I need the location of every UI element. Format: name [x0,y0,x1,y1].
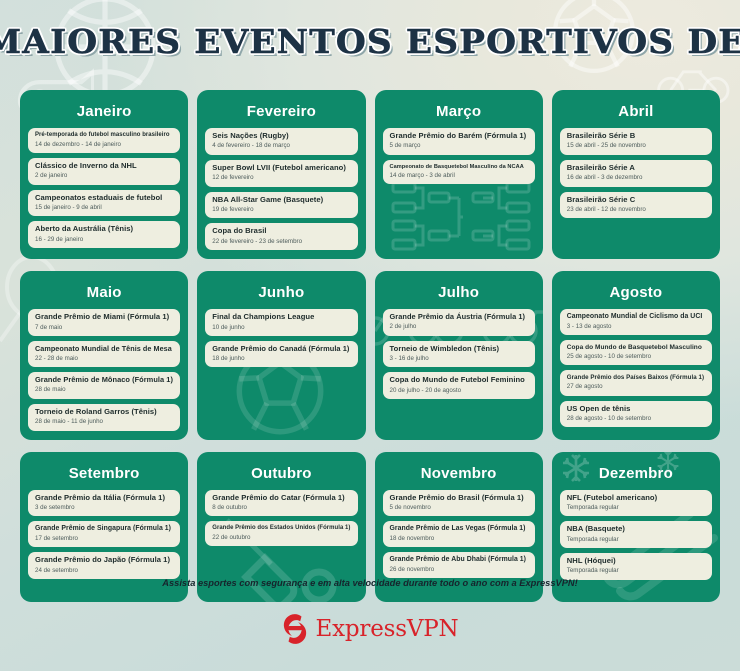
event-item[interactable]: Torneio de Wimbledon (Tênis)3 - 16 de ju… [383,341,535,368]
event-name: NBA All-Star Game (Basquete) [212,196,350,205]
month-title: Setembro [28,465,180,482]
event-date: 28 de agosto - 10 de setembro [567,415,705,422]
event-name: Grande Prêmio dos Países Baixos (Fórmula… [567,374,705,381]
event-item[interactable]: NBA (Basquete)Temporada regular [560,521,712,548]
event-item[interactable]: Aberto da Austrália (Tênis)16 - 29 de ja… [28,221,180,248]
month-card-junho: JunhoFinal da Champions League10 de junh… [197,271,365,439]
event-name: Grande Prêmio da Áustria (Fórmula 1) [390,313,528,322]
month-title: Janeiro [28,103,180,120]
event-date: 16 de abril - 3 de dezembro [567,174,705,181]
event-date: 5 de março [390,142,528,149]
event-item[interactable]: Copa do Mundo de Futebol Feminino20 de j… [383,372,535,399]
event-item[interactable]: Grande Prêmio dos Países Baixos (Fórmula… [560,370,712,395]
event-name: Grande Prêmio de Mônaco (Fórmula 1) [35,376,173,385]
event-date: 17 de setembro [35,535,173,542]
event-name: Torneio de Wimbledon (Tênis) [390,345,528,354]
event-date: 5 de novembro [390,504,528,511]
month-title: Outubro [205,465,357,482]
event-date: 27 de agosto [567,383,705,390]
event-date: 3 - 16 de julho [390,355,528,362]
brand-lockup: ExpressVPN [0,613,740,645]
footer-tagline: Assista esportes com segurança e em alta… [0,578,740,588]
event-name: Grande Prêmio do Barém (Fórmula 1) [390,132,528,141]
month-title: Maio [28,284,180,301]
event-list: Final da Champions League10 de junhoGran… [205,309,357,367]
event-item[interactable]: Final da Champions League10 de junho [205,309,357,336]
event-date: 7 de maio [35,324,173,331]
month-title: Dezembro [560,465,712,482]
event-item[interactable]: Copa do Brasil22 de fevereiro - 23 de se… [205,223,357,250]
event-item[interactable]: Super Bowl LVII (Futebol americano)12 de… [205,160,357,187]
event-name: US Open de tênis [567,405,705,414]
event-name: NHL (Hóquei) [567,557,705,566]
event-name: Copa do Mundo de Futebol Feminino [390,376,528,385]
event-item[interactable]: Grande Prêmio de Singapura (Fórmula 1)17… [28,521,180,547]
event-date: 8 de outubro [212,504,350,511]
event-date: 4 de fevereiro - 18 de março [212,142,350,149]
event-date: 2 de janeiro [35,172,173,179]
event-date: 10 de junho [212,324,350,331]
event-name: Grande Prêmio de Abu Dhabi (Fórmula 1) [390,556,528,564]
event-date: Temporada regular [567,567,705,574]
event-item[interactable]: Grande Prêmio de Abu Dhabi (Fórmula 1)26… [383,552,535,578]
event-date: 24 de setembro [35,567,173,574]
event-list: Grande Prêmio de Miami (Fórmula 1)7 de m… [28,309,180,430]
event-name: Copa do Brasil [212,227,350,236]
event-date: 22 de fevereiro - 23 de setembro [212,238,350,245]
month-card-janeiro: JaneiroPré-temporada do futebol masculin… [20,90,188,259]
month-card-maio: MaioGrande Prêmio de Miami (Fórmula 1)7 … [20,271,188,439]
month-title: Novembro [383,465,535,482]
month-title: Agosto [560,284,712,301]
event-name: Grande Prêmio de Singapura (Fórmula 1) [35,525,173,533]
event-date: 28 de maio - 11 de junho [35,418,173,425]
event-item[interactable]: Copa do Mundo de Basquetebol Masculino25… [560,340,712,366]
event-list: NFL (Futebol americano)Temporada regular… [560,490,712,580]
event-name: Grande Prêmio do Catar (Fórmula 1) [212,494,350,503]
brand-name: ExpressVPN [316,616,459,642]
event-list: Campeonato Mundial de Ciclismo da UCI3 -… [560,309,712,427]
event-item[interactable]: Brasileirão Série C23 de abril - 12 de n… [560,192,712,219]
event-item[interactable]: Clássico de Inverno da NHL2 de janeiro [28,158,180,185]
event-date: 18 de junho [212,355,350,362]
event-name: Grande Prêmio dos Estados Unidos (Fórmul… [212,525,350,532]
poster-root: MAIORES EVENTOS ESPORTIVOS DE 2023 Janei… [0,0,740,671]
month-card-julho: JulhoGrande Prêmio da Áustria (Fórmula 1… [375,271,543,439]
event-name: Grande Prêmio de Las Vegas (Fórmula 1) [390,525,528,533]
event-list: Pré-temporada do futebol masculino brasi… [28,128,180,248]
event-item[interactable]: NFL (Futebol americano)Temporada regular [560,490,712,517]
event-item[interactable]: Grande Prêmio dos Estados Unidos (Fórmul… [205,521,357,546]
event-name: Aberto da Austrália (Tênis) [35,225,173,234]
event-item[interactable]: Grande Prêmio do Brasil (Fórmula 1)5 de … [383,490,535,517]
event-date: 26 de novembro [390,566,528,573]
event-date: 22 de outubro [212,534,350,541]
page-title-wrap: MAIORES EVENTOS ESPORTIVOS DE 2023 [0,22,740,61]
event-name: Grande Prêmio da Itália (Fórmula 1) [35,494,173,503]
event-name: Brasileirão Série C [567,196,705,205]
event-list: Brasileirão Série B15 de abril - 25 de n… [560,128,712,218]
event-list: Grande Prêmio do Brasil (Fórmula 1)5 de … [383,490,535,579]
event-date: 2 de julho [390,323,528,330]
event-name: Final da Champions League [212,313,350,322]
event-item[interactable]: Grande Prêmio de Mônaco (Fórmula 1)28 de… [28,372,180,399]
event-item[interactable]: Grande Prêmio do Japão (Fórmula 1)24 de … [28,552,180,579]
event-name: Grande Prêmio do Canadá (Fórmula 1) [212,345,350,354]
event-item[interactable]: Pré-temporada do futebol masculino brasi… [28,128,180,153]
event-item[interactable]: Grande Prêmio da Áustria (Fórmula 1)2 de… [383,309,535,336]
event-item[interactable]: Grande Prêmio do Canadá (Fórmula 1)18 de… [205,341,357,368]
event-item[interactable]: Brasileirão Série A16 de abril - 3 de de… [560,160,712,187]
event-date: 14 de dezembro - 14 de janeiro [35,141,173,148]
event-list: Grande Prêmio da Itália (Fórmula 1)3 de … [28,490,180,579]
event-name: Super Bowl LVII (Futebol americano) [212,164,350,173]
event-date: 28 de maio [35,386,173,393]
event-item[interactable]: NBA All-Star Game (Basquete)19 de fevere… [205,192,357,219]
event-date: 20 de julho - 20 de agosto [390,387,528,394]
event-date: 22 - 28 de maio [35,355,173,362]
event-date: 18 de novembro [390,535,528,542]
event-date: 3 de setembro [35,504,173,511]
event-item[interactable]: US Open de tênis28 de agosto - 10 de set… [560,401,712,428]
month-title: Março [383,103,535,120]
month-title: Julho [383,284,535,301]
event-item[interactable]: Campeonato Mundial de Tênis de Mesa22 - … [28,341,180,367]
event-list: Grande Prêmio do Barém (Fórmula 1)5 de m… [383,128,535,184]
event-date: 3 - 13 de agosto [567,323,705,330]
event-name: Torneio de Roland Garros (Tênis) [35,408,173,417]
event-name: NFL (Futebol americano) [567,494,705,503]
event-date: 25 de agosto - 10 de setembro [567,353,705,360]
event-item[interactable]: Campeonato Mundial de Ciclismo da UCI3 -… [560,309,712,335]
event-date: 16 - 29 de janeiro [35,236,173,243]
months-grid: JaneiroPré-temporada do futebol masculin… [20,90,720,602]
tournament-bracket-icon [391,177,531,255]
event-item[interactable]: Seis Nações (Rugby)4 de fevereiro - 18 d… [205,128,357,155]
event-name: Clássico de Inverno da NHL [35,162,173,171]
event-date: Temporada regular [567,504,705,511]
event-item[interactable]: Campeonato de Basquetebol Masculino da N… [383,160,535,184]
month-card-agosto: AgostoCampeonato Mundial de Ciclismo da … [552,271,720,439]
event-name: Grande Prêmio de Miami (Fórmula 1) [35,313,173,322]
event-date: 19 de fevereiro [212,206,350,213]
event-list: Grande Prêmio do Catar (Fórmula 1)8 de o… [205,490,357,547]
month-title: Abril [560,103,712,120]
event-list: Seis Nações (Rugby)4 de fevereiro - 18 d… [205,128,357,250]
event-item[interactable]: NHL (Hóquei)Temporada regular [560,553,712,580]
month-card-abril: AbrilBrasileirão Série B15 de abril - 25… [552,90,720,259]
event-date: Temporada regular [567,536,705,543]
event-name: Pré-temporada do futebol masculino brasi… [35,132,173,139]
event-list: Grande Prêmio da Áustria (Fórmula 1)2 de… [383,309,535,399]
event-item[interactable]: Grande Prêmio da Itália (Fórmula 1)3 de … [28,490,180,517]
event-item[interactable]: Torneio de Roland Garros (Tênis)28 de ma… [28,404,180,431]
event-date: 14 de março - 3 de abril [390,172,528,179]
event-name: Copa do Mundo de Basquetebol Masculino [567,344,705,352]
event-item[interactable]: Campeonatos estaduais de futebol15 de ja… [28,190,180,217]
event-name: Grande Prêmio do Brasil (Fórmula 1) [390,494,528,503]
event-item[interactable]: Brasileirão Série B15 de abril - 25 de n… [560,128,712,155]
event-item[interactable]: Grande Prêmio do Barém (Fórmula 1)5 de m… [383,128,535,155]
event-date: 12 de fevereiro [212,174,350,181]
month-card-março: MarçoGrande Prêmio do Barém (Fórmula 1)5… [375,90,543,259]
event-name: Campeonato de Basquetebol Masculino da N… [390,164,528,171]
expressvpn-logo-icon [282,613,308,645]
event-name: Brasileirão Série A [567,164,705,173]
event-name: Campeonato Mundial de Tênis de Mesa [35,345,173,354]
event-name: Seis Nações (Rugby) [212,132,350,141]
event-item[interactable]: Grande Prêmio do Catar (Fórmula 1)8 de o… [205,490,357,517]
month-title: Junho [205,284,357,301]
event-name: Brasileirão Série B [567,132,705,141]
event-date: 15 de janeiro - 9 de abril [35,204,173,211]
page-title: MAIORES EVENTOS ESPORTIVOS DE 2023 [0,22,740,61]
event-name: NBA (Basquete) [567,525,705,534]
month-title: Fevereiro [205,103,357,120]
event-name: Campeonato Mundial de Ciclismo da UCI [567,313,705,321]
event-name: Campeonatos estaduais de futebol [35,194,173,203]
event-item[interactable]: Grande Prêmio de Las Vegas (Fórmula 1)18… [383,521,535,547]
event-date: 15 de abril - 25 de novembro [567,142,705,149]
event-item[interactable]: Grande Prêmio de Miami (Fórmula 1)7 de m… [28,309,180,336]
event-date: 23 de abril - 12 de novembro [567,206,705,213]
month-card-fevereiro: FevereiroSeis Nações (Rugby)4 de feverei… [197,90,365,259]
event-name: Grande Prêmio do Japão (Fórmula 1) [35,556,173,565]
